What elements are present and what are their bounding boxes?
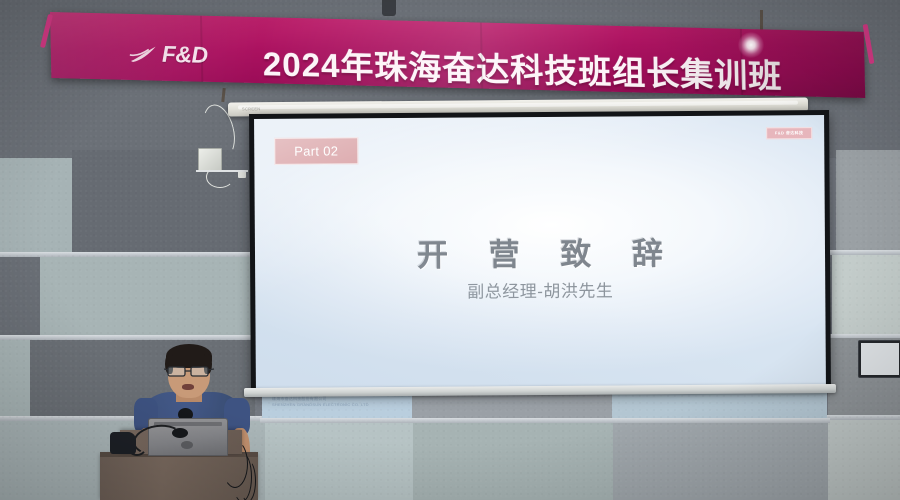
slide-title: 开 营 致 辞 [255, 227, 825, 276]
wall-panel-r2-a [0, 257, 40, 337]
wall-panel-bottom-mid-a [265, 423, 413, 500]
cable-loop-right-3 [240, 460, 256, 500]
wall-monitor [858, 340, 900, 378]
wall-wire-run [196, 170, 248, 172]
speaker-glasses-icon [164, 364, 216, 378]
wall-panel-r4-b [824, 420, 900, 500]
wall-panel-mid-lower-b [412, 392, 612, 420]
wall-panel-bottom-mid-c [613, 423, 828, 500]
wall-panel-r2-b [40, 257, 252, 337]
projection-screen-frame: Part 02 F&D 奋达科技 开 营 致 辞 副总经理-胡洪先生 [249, 110, 831, 394]
wall-panel-r1-a [0, 158, 72, 254]
wall-panel-mid-lower-c [612, 392, 827, 420]
swoosh-icon [129, 43, 159, 64]
banner-logo: F&D [129, 40, 208, 69]
wall-panel-r1-c [836, 150, 900, 254]
wall-panel-bottom-mid-b [413, 423, 613, 500]
room-photo-scene: 珠海市奋达科技股份有限公司 SHENZHEN GRANDSUN ELECTRON… [0, 0, 900, 500]
screen-housing-highlight [238, 101, 798, 110]
wall-panel-r3-a [0, 340, 30, 418]
wall-monitor-screen [861, 343, 899, 375]
podium-bag [110, 432, 136, 454]
speaker-mouth [182, 384, 194, 390]
slide-corner-logo: F&D 奋达科技 [766, 127, 812, 139]
podium-mic-head-icon [172, 428, 188, 438]
wall-footer-text: 珠海市奋达科技股份有限公司 SHENZHEN GRANDSUN ELECTRON… [272, 396, 369, 408]
laptop-brand-badge [181, 441, 193, 449]
screen-housing-label: SCREEN [242, 106, 261, 111]
ceiling-light-glare [738, 32, 764, 58]
wall-panel-r2-c [832, 255, 900, 337]
wall-footer-line-2: SHENZHEN GRANDSUN ELECTRONIC CO.,LTD [272, 402, 369, 408]
slide-subtitle: 副总经理-胡洪先生 [255, 275, 825, 304]
ceiling-mount-dark [382, 0, 396, 16]
part-badge: Part 02 [274, 137, 358, 165]
presentation-slide: Part 02 F&D 奋达科技 开 营 致 辞 副总经理-胡洪先生 [254, 115, 826, 389]
